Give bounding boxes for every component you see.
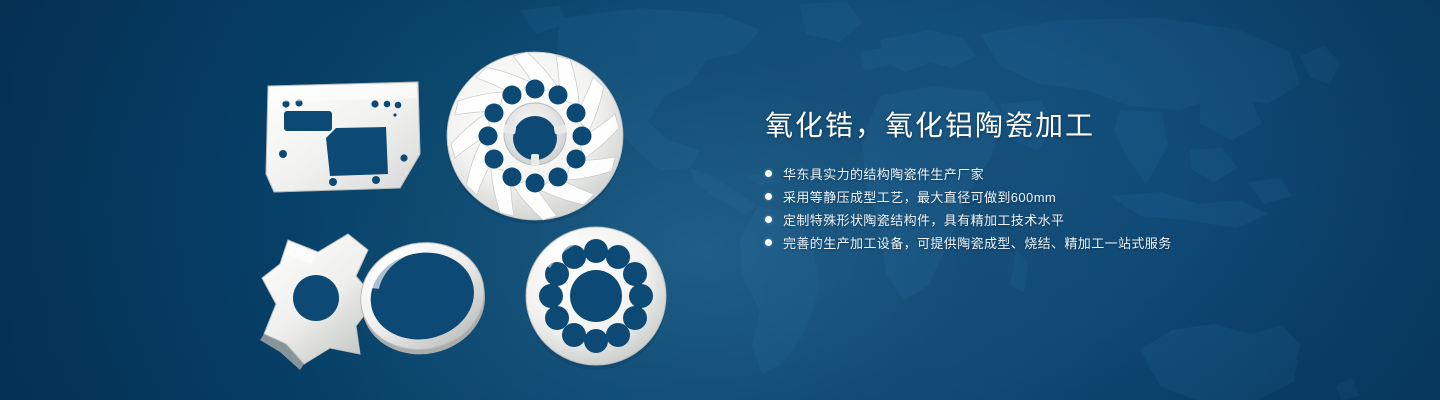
- bullet-dot-icon: [765, 193, 772, 200]
- ceramic-perforated-disc-photo: [520, 222, 675, 377]
- promo-banner: 氧化锆，氧化铝陶瓷加工 华东具实力的结构陶瓷件生产厂家 采用等静压成型工艺，最大…: [0, 0, 1440, 400]
- list-item-label: 定制特殊形状陶瓷结构件，具有精加工技术水平: [783, 210, 1064, 229]
- feature-list: 华东具实力的结构陶瓷件生产厂家 采用等静压成型工艺，最大直径可做到600mm 定…: [765, 162, 1385, 254]
- ceramic-ring-photo: [352, 232, 502, 362]
- list-item: 采用等静压成型工艺，最大直径可做到600mm: [765, 185, 1385, 208]
- page-title: 氧化锆，氧化铝陶瓷加工: [765, 108, 1385, 144]
- bullet-dot-icon: [765, 239, 772, 246]
- list-item: 定制特殊形状陶瓷结构件，具有精加工技术水平: [765, 208, 1385, 231]
- bullet-dot-icon: [765, 216, 772, 223]
- list-item: 完善的生产加工设备，可提供陶瓷成型、烧结、精加工一站式服务: [765, 231, 1385, 254]
- bullet-dot-icon: [765, 170, 772, 177]
- list-item-label: 完善的生产加工设备，可提供陶瓷成型、烧结、精加工一站式服务: [783, 233, 1172, 252]
- ceramic-plate-photo: [258, 78, 428, 203]
- list-item-label: 华东具实力的结构陶瓷件生产厂家: [783, 164, 984, 183]
- product-photo-group: [0, 0, 720, 400]
- list-item: 华东具实力的结构陶瓷件生产厂家: [765, 162, 1385, 185]
- list-item-label: 采用等静压成型工艺，最大直径可做到600mm: [783, 187, 1056, 206]
- ceramic-impeller-photo: [442, 44, 628, 226]
- banner-copy: 氧化锆，氧化铝陶瓷加工 华东具实力的结构陶瓷件生产厂家 采用等静压成型工艺，最大…: [765, 108, 1385, 254]
